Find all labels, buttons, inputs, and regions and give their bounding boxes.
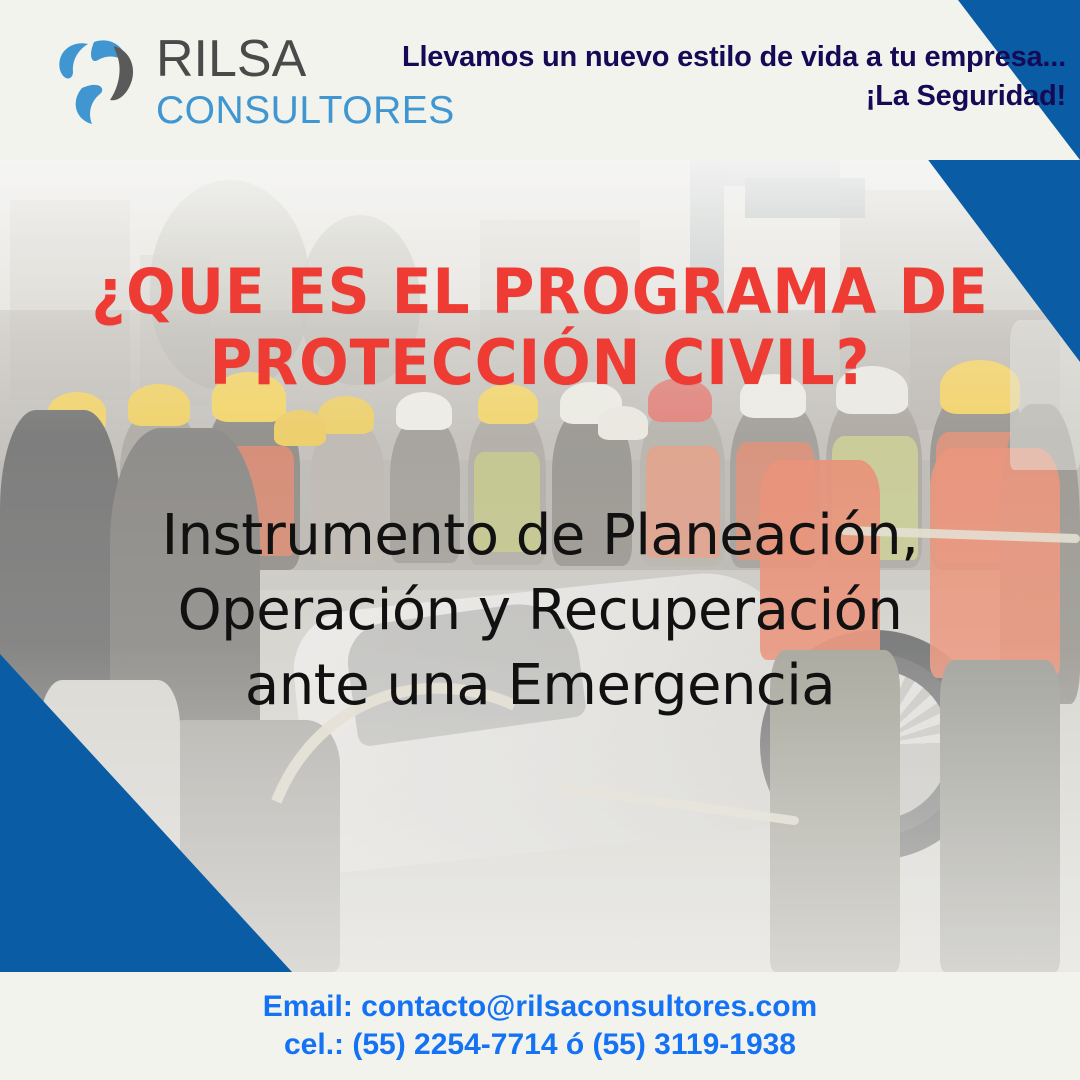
footer-bar: Email: contacto@rilsaconsultores.com cel…: [0, 972, 1080, 1080]
subtitle-line-2: Operación y Recuperación: [60, 573, 1020, 648]
header-tagline: Llevamos un nuevo estilo de vida a tu em…: [366, 38, 1066, 116]
pinwheel-droplets-logo-icon: [42, 26, 150, 134]
photo-hardhat-white: [598, 406, 648, 440]
tagline-line-1: Llevamos un nuevo estilo de vida a tu em…: [402, 41, 1066, 73]
subtitle-line-1: Instrumento de Planeación,: [60, 498, 1020, 573]
footer-phone[interactable]: cel.: (55) 2254-7714 ó (55) 3119-1938: [284, 1028, 796, 1062]
poster-canvas: RILSA CONSULTORES Llevamos un nuevo esti…: [0, 0, 1080, 1080]
photo-hardhat-yellow: [318, 396, 374, 434]
subtitle-line-3: ante una Emergencia: [60, 648, 1020, 723]
headline-line-2: PROTECCIÓN CIVIL?: [32, 327, 1047, 398]
tagline-line-2: ¡La Seguridad!: [866, 80, 1066, 112]
subtitle-text: Instrumento de Planeación, Operación y R…: [60, 498, 1020, 723]
footer-email[interactable]: Email: contacto@rilsaconsultores.com: [263, 990, 817, 1024]
photo-hardhat-yellow: [274, 410, 326, 446]
page-title: ¿QUE ES EL PROGRAMA DE PROTECCIÓN CIVIL?: [32, 256, 1047, 399]
headline-line-1: ¿QUE ES EL PROGRAMA DE: [32, 256, 1047, 327]
